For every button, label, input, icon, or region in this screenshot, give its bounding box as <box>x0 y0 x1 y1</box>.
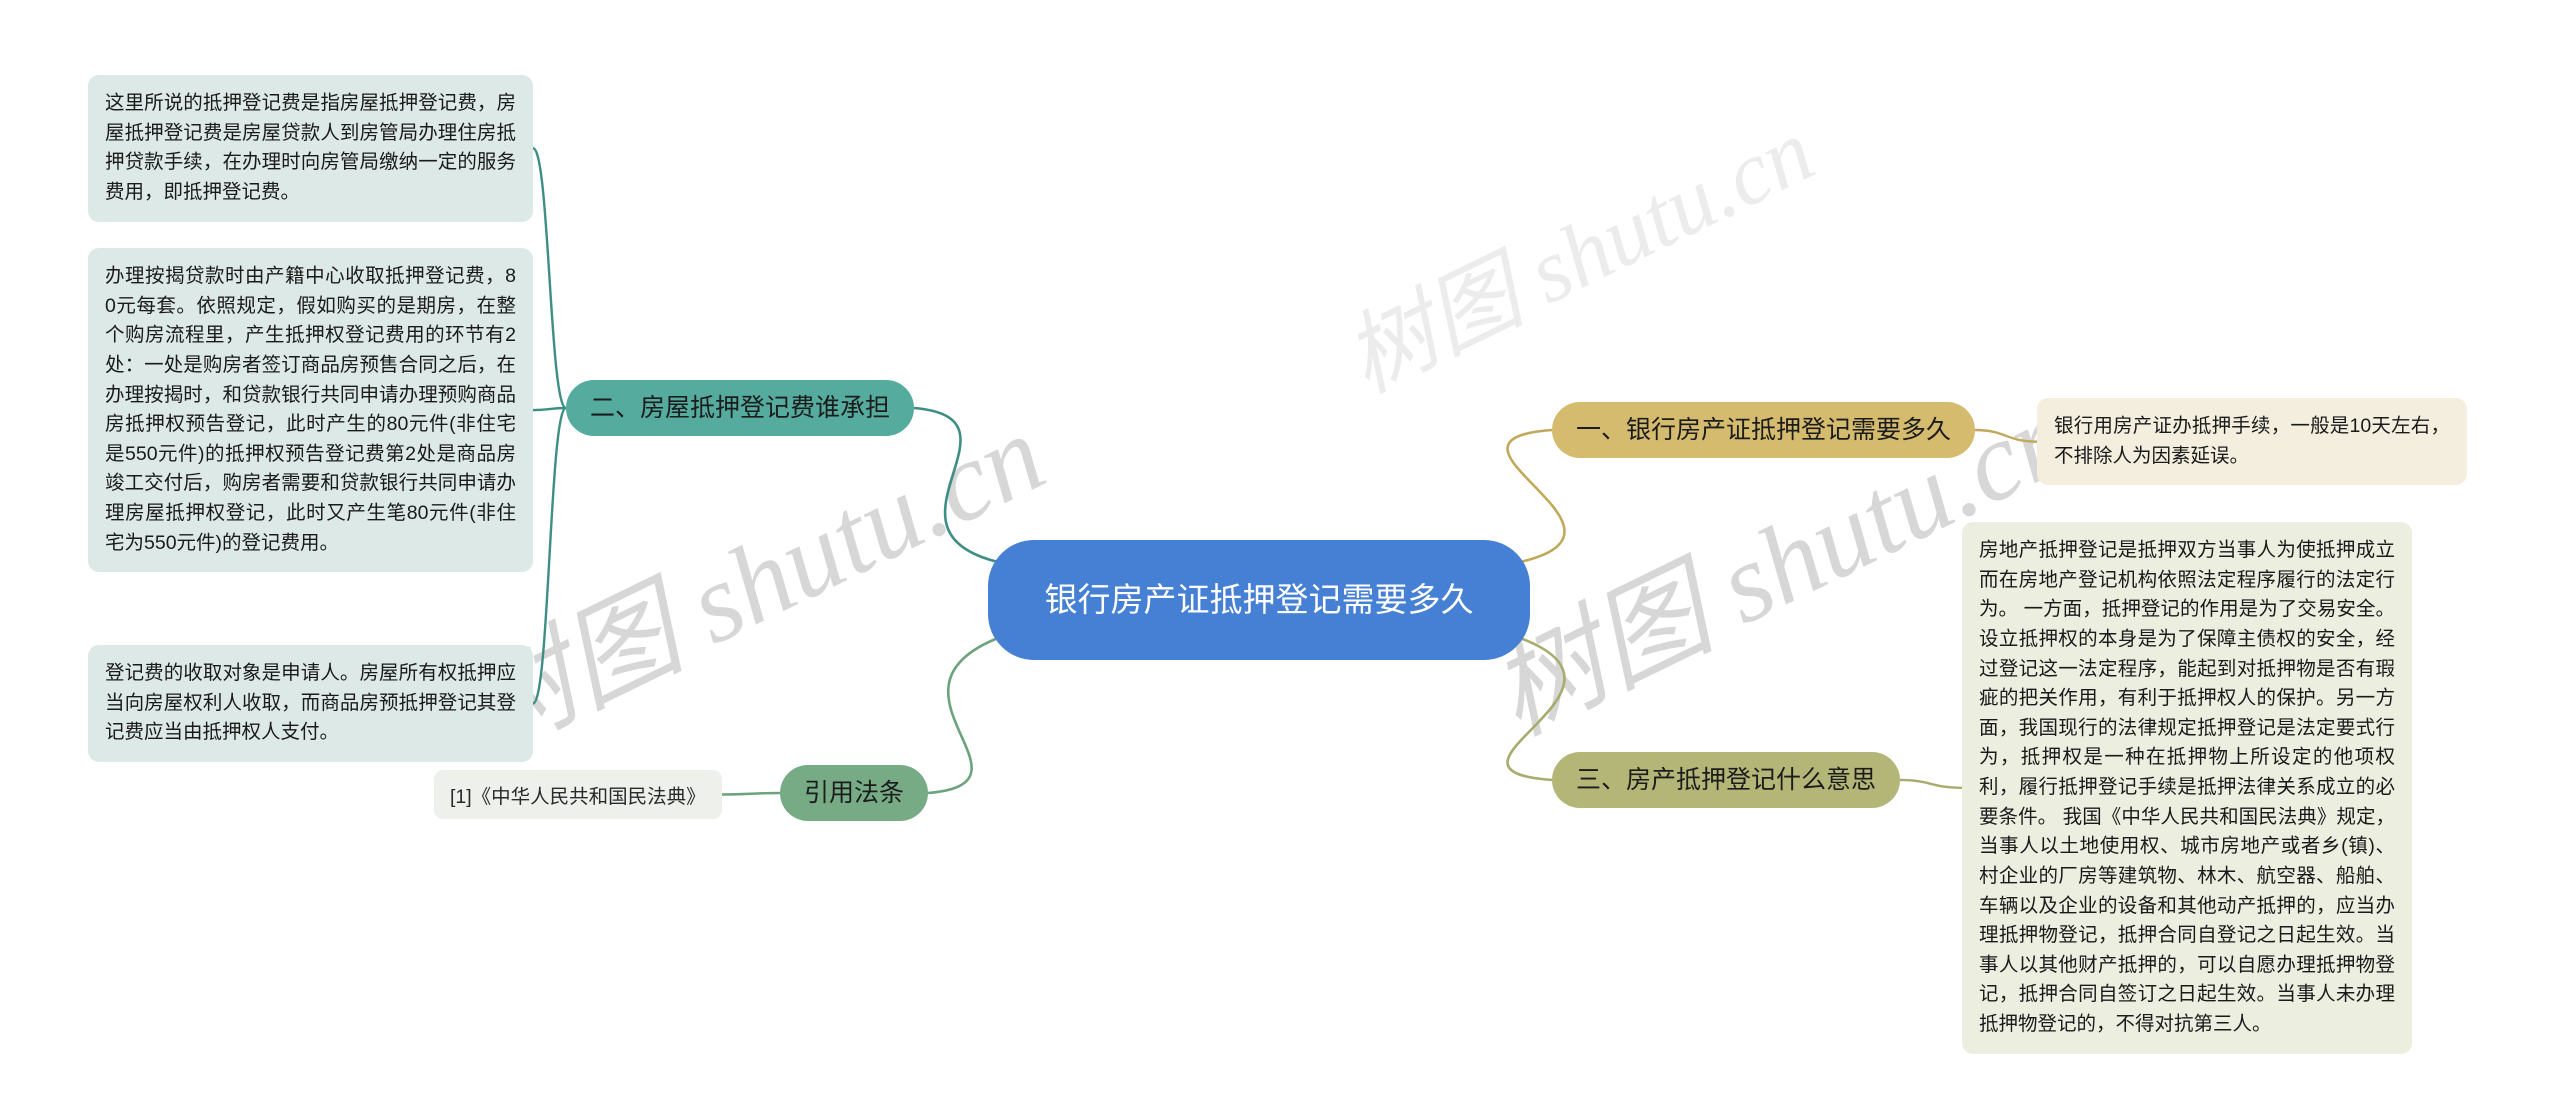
link-root-branch-two <box>914 408 998 562</box>
mindmap-canvas: 树图 shutu.cn 树图 shutu.cn 树图 shutu.cn 银行房产… <box>0 0 2560 1095</box>
link-branch-two-note-2 <box>533 408 566 410</box>
link-root-branch-citation <box>928 638 998 793</box>
branch-node-three-label: 三、房产抵押登记什么意思 <box>1576 762 1876 798</box>
branch-node-two[interactable]: 二、房屋抵押登记费谁承担 <box>566 380 914 436</box>
link-branch-two-note-3 <box>533 408 566 703</box>
root-node-label: 银行房产证抵押登记需要多久 <box>1045 576 1474 624</box>
note-box-branch-three-1: 房地产抵押登记是抵押双方当事人为使抵押成立而在房地产登记机构依照法定程序履行的法… <box>1962 522 2412 1054</box>
branch-node-citation[interactable]: 引用法条 <box>780 765 928 821</box>
link-branch-one-note <box>1975 430 2037 442</box>
branch-node-three[interactable]: 三、房产抵押登记什么意思 <box>1552 752 1900 808</box>
watermark-top-right: 树图 shutu.cn <box>1320 79 1831 417</box>
link-root-branch-three <box>1508 638 1565 780</box>
note-box-branch-two-2: 办理按揭贷款时由产籍中心收取抵押登记费，80元每套。依照规定，假如购买的是期房，… <box>88 248 533 572</box>
root-node[interactable]: 银行房产证抵押登记需要多久 <box>988 540 1530 660</box>
branch-node-one[interactable]: 一、银行房产证抵押登记需要多久 <box>1552 402 1975 458</box>
branch-node-one-label: 一、银行房产证抵押登记需要多久 <box>1576 412 1951 448</box>
branch-node-citation-label: 引用法条 <box>804 775 904 811</box>
note-box-citation: [1]《中华人民共和国民法典》 <box>434 770 722 819</box>
link-root-branch-one <box>1508 430 1565 562</box>
link-branch-three-note <box>1900 780 1962 788</box>
branch-node-two-label: 二、房屋抵押登记费谁承担 <box>590 390 890 426</box>
note-box-branch-two-3: 登记费的收取对象是申请人。房屋所有权抵押应当向房屋权利人收取，而商品房预抵押登记… <box>88 645 533 762</box>
note-box-branch-two-1: 这里所说的抵押登记费是指房屋抵押登记费，房屋抵押登记费是房屋贷款人到房管局办理住… <box>88 75 533 222</box>
link-branch-citation-note <box>722 793 780 795</box>
link-branch-two-note-1 <box>533 148 566 408</box>
note-box-branch-one-1: 银行用房产证办抵押手续，一般是10天左右，不排除人为因素延误。 <box>2037 398 2467 485</box>
